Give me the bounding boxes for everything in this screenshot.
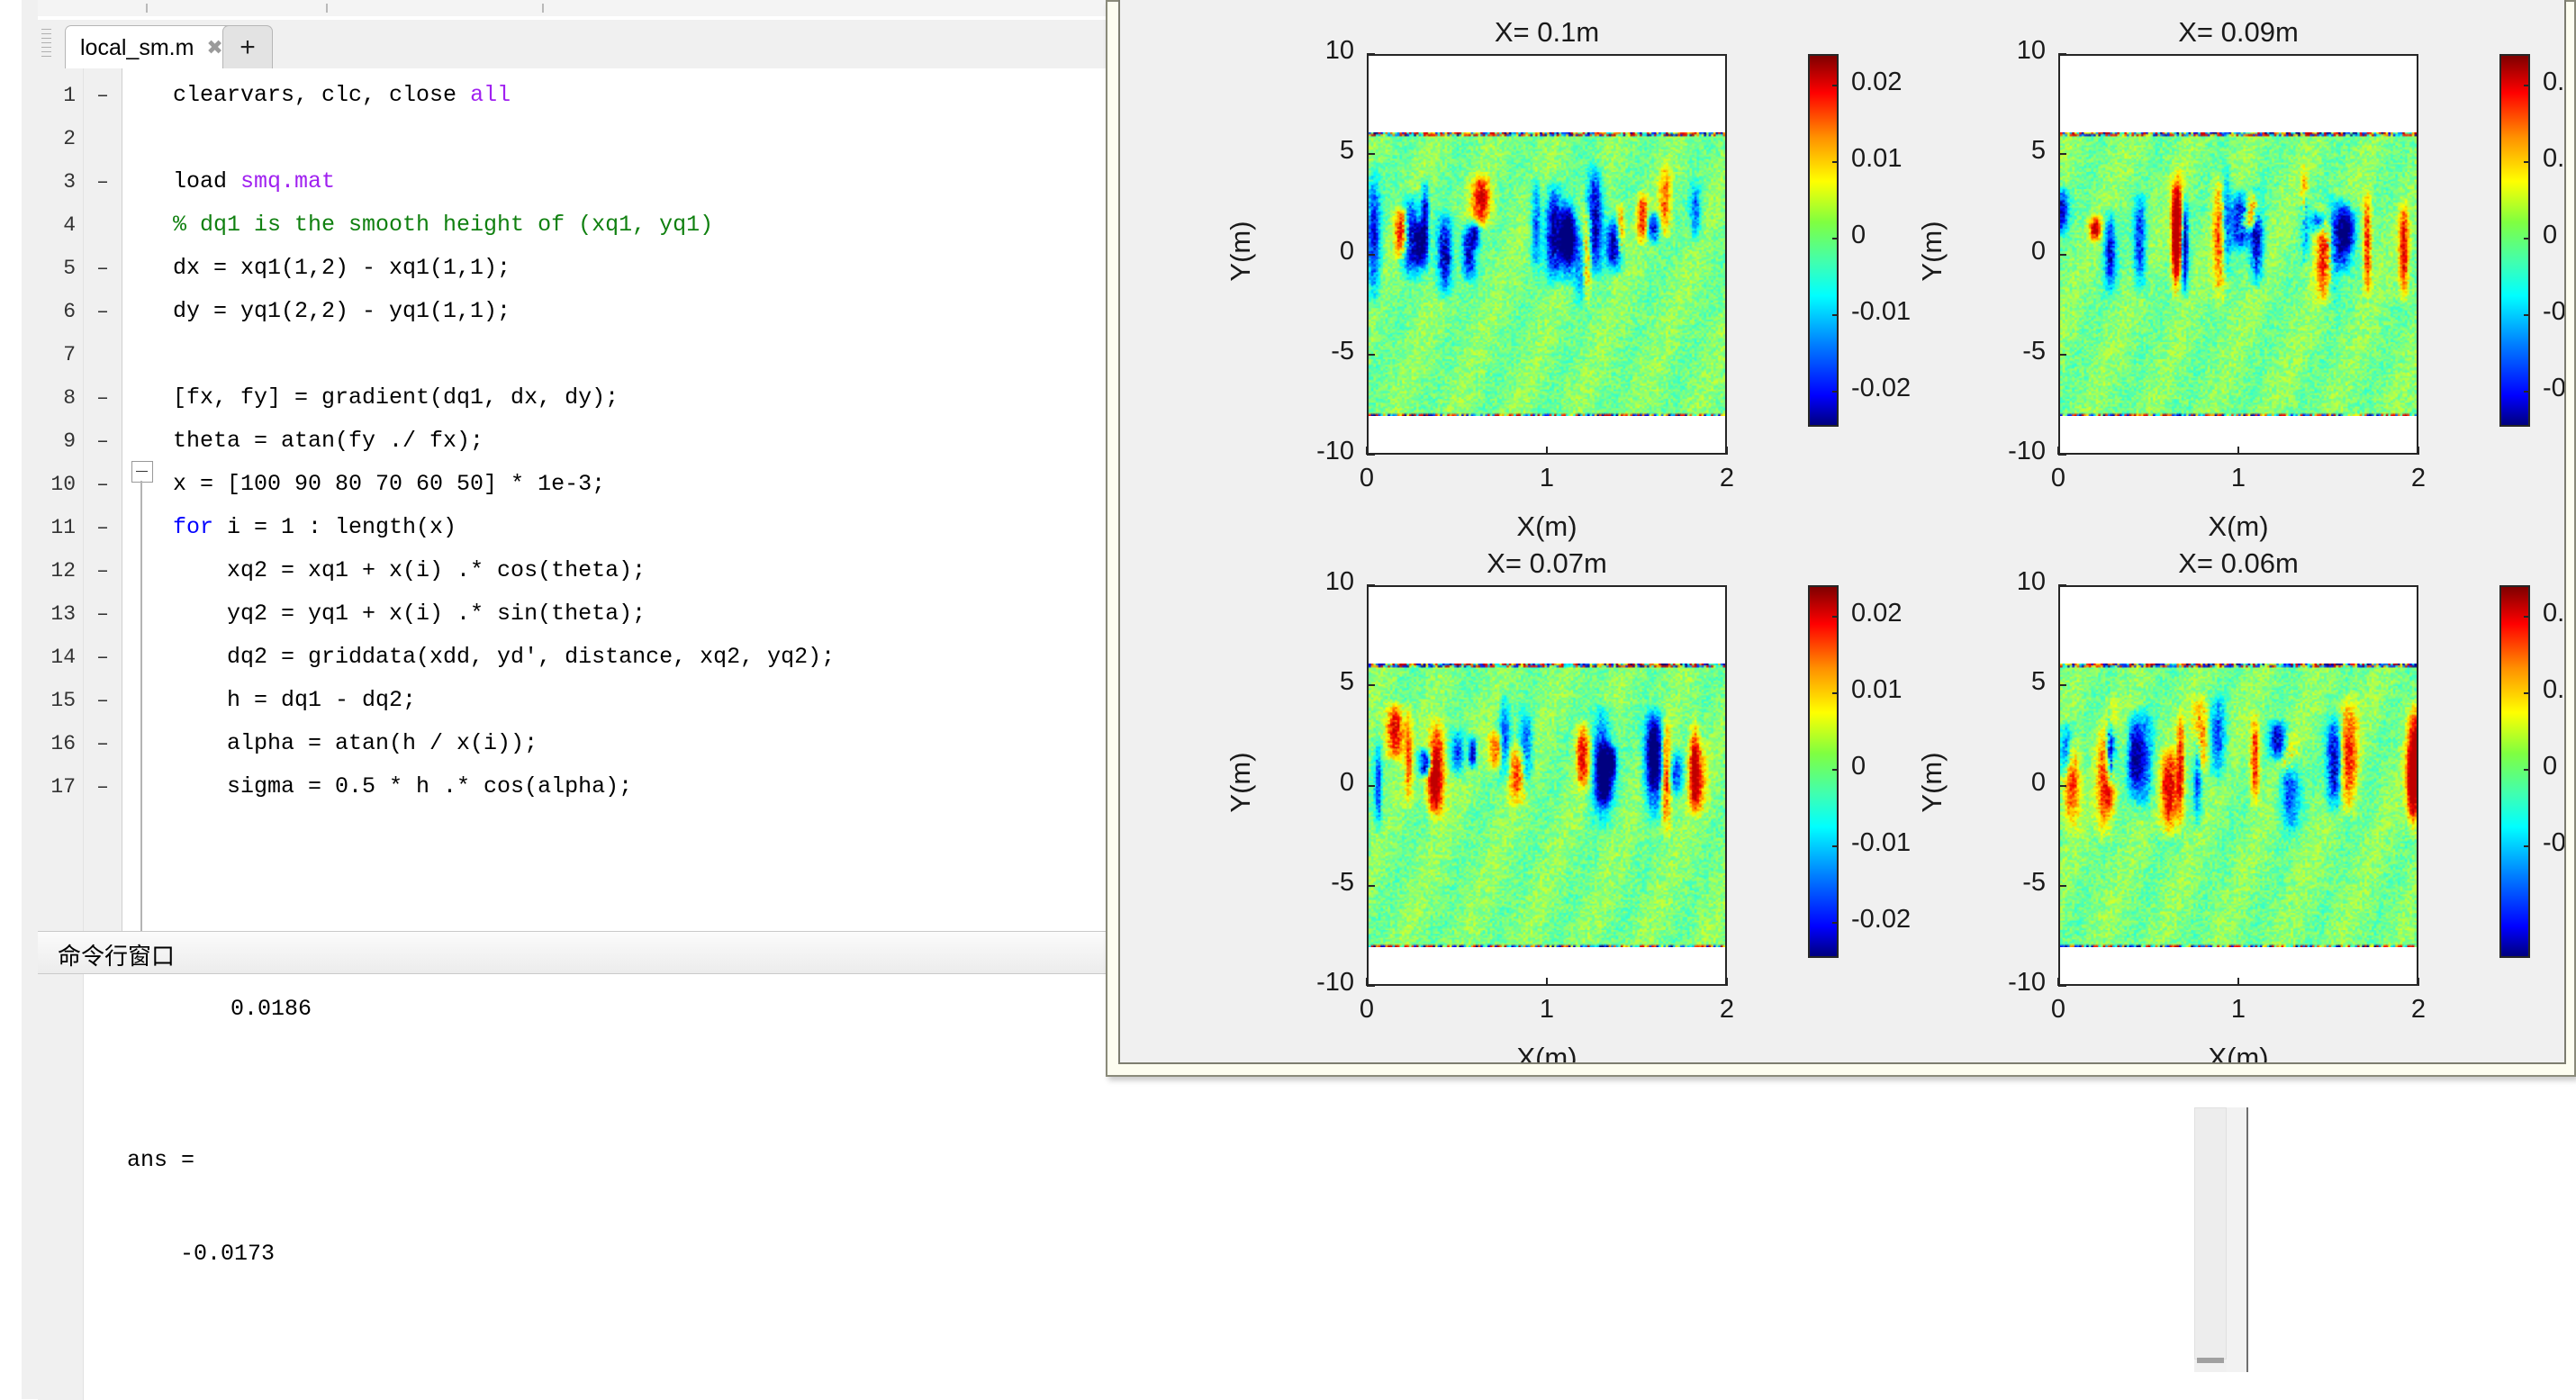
y-tick-label: -10 xyxy=(1952,437,2046,466)
executable-marker: – xyxy=(92,679,113,722)
colorbar-tick-label: 0 xyxy=(2543,221,2557,250)
code-text: load smq.mat xyxy=(173,160,335,203)
x-axis-label: X(m) xyxy=(2013,1042,2463,1064)
y-tick-label: 0 xyxy=(1261,237,1354,266)
colorbar-tick-mark xyxy=(2524,692,2530,694)
colorbar-tick-mark xyxy=(2524,391,2530,393)
x-tick-mark xyxy=(1546,447,1548,455)
x-tick-label: 2 xyxy=(1686,464,1767,493)
command-window-title: 命令行窗口 xyxy=(58,938,175,971)
command-window-gutter xyxy=(38,974,84,1400)
editor-toolstrip-strip xyxy=(38,0,1109,16)
y-tick-label: -5 xyxy=(1952,337,2046,366)
code-line: 9–theta = atan(fy ./ fx); xyxy=(38,420,1109,463)
code-text: yq2 = yq1 + x(i) .* sin(theta); xyxy=(173,592,646,636)
colorbar-tick-label: 0 xyxy=(2543,752,2557,781)
code-line: 2 xyxy=(38,117,1109,160)
y-tick-label: 5 xyxy=(1952,136,2046,166)
code-text: clearvars, clc, close all xyxy=(173,74,511,117)
executable-marker: – xyxy=(92,592,113,636)
window-left-rail xyxy=(22,0,39,1399)
x-tick-mark xyxy=(1366,978,1368,986)
y-tick-label: -5 xyxy=(1261,868,1354,898)
command-window-dock: 命令行窗口 0.0186ans = -0.0173 xyxy=(38,931,1109,1400)
line-number: 17 xyxy=(38,765,76,808)
x-tick-label: 2 xyxy=(1686,995,1767,1025)
y-tick-mark xyxy=(1367,684,1375,686)
colorbar-tick-label: 0.01 xyxy=(2543,675,2566,705)
x-tick-mark xyxy=(2237,447,2239,455)
subplot-title: X= 0.07m xyxy=(1295,547,1799,580)
colorbar[interactable] xyxy=(2499,585,2530,958)
colorbar-tick-mark xyxy=(2524,769,2530,771)
executable-marker: – xyxy=(92,722,113,765)
line-number: 11 xyxy=(38,506,76,549)
code-line: 17– sigma = 0.5 * h .* cos(alpha); xyxy=(38,765,1109,808)
y-tick-mark xyxy=(2058,785,2066,787)
x-tick-mark xyxy=(2418,978,2419,986)
command-window-output[interactable]: 0.0186ans = -0.0173 xyxy=(84,974,1109,1400)
new-tab-button[interactable]: + xyxy=(222,25,273,69)
heatmap-image xyxy=(2060,132,2417,417)
subplot-title: X= 0.1m xyxy=(1295,16,1799,49)
colorbar-tick-label: -0.01 xyxy=(2543,297,2566,327)
colorbar[interactable] xyxy=(2499,54,2530,427)
subplot[interactable]: X= 0.09m1050-5-10012Y(m)X(m)0.020.010-0.… xyxy=(1812,0,2503,531)
colorbar-tick-mark xyxy=(2524,85,2530,86)
y-tick-mark xyxy=(2058,254,2066,256)
code-text: xq2 = xq1 + x(i) .* cos(theta); xyxy=(173,549,646,592)
y-tick-label: 0 xyxy=(1952,768,2046,798)
line-number: 3 xyxy=(38,160,76,203)
editor-drag-handle[interactable] xyxy=(38,20,57,68)
executable-marker: – xyxy=(92,74,113,117)
x-tick-label: 0 xyxy=(1326,995,1407,1025)
code-line: 6–dy = yq1(2,2) - yq1(1,1); xyxy=(38,290,1109,333)
line-number: 10 xyxy=(38,463,76,506)
line-number: 16 xyxy=(38,722,76,765)
executable-marker: – xyxy=(92,549,113,592)
command-output-line: 0.0186 xyxy=(163,996,312,1022)
x-tick-mark xyxy=(2057,447,2059,455)
x-tick-label: 2 xyxy=(2378,464,2459,493)
scrollbar-thumb[interactable] xyxy=(2194,1107,2227,1359)
y-tick-mark xyxy=(1367,254,1375,256)
y-tick-mark xyxy=(1367,785,1375,787)
colorbar-tick-label: -0.01 xyxy=(2543,828,2566,858)
x-axis-label: X(m) xyxy=(1322,1042,1772,1064)
line-number: 9 xyxy=(38,420,76,463)
y-tick-label: -5 xyxy=(1261,337,1354,366)
y-tick-mark xyxy=(1367,584,1375,586)
x-tick-mark xyxy=(2057,978,2059,986)
code-line: 13– yq2 = yq1 + x(i) .* sin(theta); xyxy=(38,592,1109,636)
plot-axes[interactable] xyxy=(1367,585,1727,986)
y-axis-label: Y(m) xyxy=(1916,674,1948,890)
fold-range-bar xyxy=(140,481,142,931)
y-tick-mark xyxy=(2058,53,2066,55)
x-tick-mark xyxy=(1726,447,1728,455)
colorbar-tick-mark xyxy=(2524,845,2530,847)
code-text: dx = xq1(1,2) - xq1(1,1); xyxy=(173,247,511,290)
colorbar-tick-mark xyxy=(2524,238,2530,239)
y-tick-mark xyxy=(1367,53,1375,55)
code-line: 3–load smq.mat xyxy=(38,160,1109,203)
heatmap-image xyxy=(1369,132,1725,417)
plot-axes[interactable] xyxy=(2058,585,2418,986)
toolstrip-tick xyxy=(326,4,328,13)
y-tick-mark xyxy=(2058,985,2066,987)
y-tick-mark xyxy=(2058,454,2066,456)
x-tick-mark xyxy=(1366,447,1368,455)
executable-marker: – xyxy=(92,636,113,679)
y-axis-label: Y(m) xyxy=(1916,143,1948,359)
code-line: 1–clearvars, clc, close all xyxy=(38,74,1109,117)
y-tick-mark xyxy=(1367,153,1375,155)
code-text: sigma = 0.5 * h .* cos(alpha); xyxy=(173,765,632,808)
editor-tab-local-sm[interactable]: local_sm.m ✖ xyxy=(65,25,237,69)
line-number: 5 xyxy=(38,247,76,290)
executable-marker: – xyxy=(92,506,113,549)
line-number: 2 xyxy=(38,117,76,160)
y-tick-label: 0 xyxy=(1952,237,2046,266)
code-text: theta = atan(fy ./ fx); xyxy=(173,420,484,463)
code-text: for i = 1 : length(x) xyxy=(173,506,456,549)
y-tick-mark xyxy=(2058,584,2066,586)
code-line: 10–x = [100 90 80 70 60 50] * 1e-3; xyxy=(38,463,1109,506)
subplot[interactable]: X= 0.06m1050-5-10012Y(m)X(m)0.020.010-0.… xyxy=(1812,531,2503,1062)
code-text: alpha = atan(h / x(i)); xyxy=(173,722,538,765)
code-text: x = [100 90 80 70 60 50] * 1e-3; xyxy=(173,463,605,506)
executable-marker: – xyxy=(92,160,113,203)
executable-marker: – xyxy=(92,420,113,463)
code-editor[interactable]: 1–clearvars, clc, close all23–load smq.m… xyxy=(38,68,1109,931)
executable-marker: – xyxy=(92,463,113,506)
y-tick-mark xyxy=(2058,153,2066,155)
y-tick-mark xyxy=(2058,885,2066,887)
fold-collapse-icon[interactable] xyxy=(131,461,153,483)
x-tick-label: 1 xyxy=(2198,464,2279,493)
x-tick-label: 1 xyxy=(2198,995,2279,1025)
code-lines: 1–clearvars, clc, close all23–load smq.m… xyxy=(38,68,1109,931)
code-line: 5–dx = xq1(1,2) - xq1(1,1); xyxy=(38,247,1109,290)
colorbar-tick-label: -0.02 xyxy=(2543,374,2566,403)
colorbar-tick-label: 0.02 xyxy=(2543,599,2566,628)
y-tick-mark xyxy=(1367,354,1375,356)
code-line: 4% dq1 is the smooth height of (xq1, yq1… xyxy=(38,203,1109,247)
y-tick-label: 10 xyxy=(1952,567,2046,597)
code-line: 14– dq2 = griddata(xdd, yd', distance, x… xyxy=(38,636,1109,679)
y-tick-label: -10 xyxy=(1261,968,1354,998)
x-tick-label: 0 xyxy=(1326,464,1407,493)
y-tick-label: -10 xyxy=(1261,437,1354,466)
executable-marker: – xyxy=(92,247,113,290)
figure-window[interactable]: X= 0.1m1050-5-10012Y(m)X(m)0.020.010-0.0… xyxy=(1106,0,2576,1077)
x-tick-label: 0 xyxy=(2018,995,2099,1025)
window-left-margin xyxy=(0,0,22,1399)
line-number: 6 xyxy=(38,290,76,333)
y-tick-mark xyxy=(2058,354,2066,356)
y-tick-label: 5 xyxy=(1261,136,1354,166)
y-axis-label: Y(m) xyxy=(1225,143,1257,359)
y-tick-mark xyxy=(2058,684,2066,686)
code-text: dy = yq1(2,2) - yq1(1,1); xyxy=(173,290,511,333)
line-number: 14 xyxy=(38,636,76,679)
subplot-title: X= 0.09m xyxy=(1986,16,2490,49)
line-number: 1 xyxy=(38,74,76,117)
y-tick-mark xyxy=(1367,885,1375,887)
subplot-title: X= 0.06m xyxy=(1986,547,2490,580)
y-tick-mark xyxy=(1367,985,1375,987)
x-tick-label: 1 xyxy=(1506,995,1587,1025)
heatmap-image xyxy=(1369,664,1725,948)
close-icon[interactable]: ✖ xyxy=(206,38,222,58)
executable-marker: – xyxy=(92,376,113,420)
toolstrip-tick xyxy=(542,4,544,13)
x-tick-label: 2 xyxy=(2378,995,2459,1025)
executable-marker: – xyxy=(92,290,113,333)
y-tick-label: 5 xyxy=(1952,667,2046,697)
code-text: dq2 = griddata(xdd, yd', distance, xq2, … xyxy=(173,636,835,679)
x-tick-mark xyxy=(1726,978,1728,986)
code-line: 7 xyxy=(38,333,1109,376)
code-line: 12– xq2 = xq1 + x(i) .* cos(theta); xyxy=(38,549,1109,592)
x-tick-label: 0 xyxy=(2018,464,2099,493)
y-tick-label: -5 xyxy=(1952,868,2046,898)
plot-axes[interactable] xyxy=(1367,54,1727,455)
line-number: 8 xyxy=(38,376,76,420)
scrollbar-bottom-cap xyxy=(2197,1358,2224,1363)
x-tick-mark xyxy=(2237,978,2239,986)
line-number: 7 xyxy=(38,333,76,376)
editor-tab-bar: local_sm.m ✖ + xyxy=(56,20,1109,69)
y-tick-label: 10 xyxy=(1261,36,1354,66)
code-text: [fx, fy] = gradient(dq1, dx, dy); xyxy=(173,376,619,420)
command-output-line: ans = xyxy=(127,1147,194,1173)
toolstrip-tick xyxy=(146,4,148,13)
code-text: % dq1 is the smooth height of (xq1, yq1) xyxy=(173,203,713,247)
scrollbar-outer-track[interactable] xyxy=(2227,1107,2248,1372)
command-output-line: -0.0173 xyxy=(140,1241,275,1267)
y-tick-label: 0 xyxy=(1261,768,1354,798)
y-tick-mark xyxy=(1367,454,1375,456)
executable-marker: – xyxy=(92,765,113,808)
colorbar-tick-mark xyxy=(2524,314,2530,316)
y-tick-label: -10 xyxy=(1952,968,2046,998)
y-tick-label: 10 xyxy=(1261,567,1354,597)
y-tick-label: 5 xyxy=(1261,667,1354,697)
subplot[interactable]: X= 0.07m1050-5-10012Y(m)X(m)0.020.010-0.… xyxy=(1120,531,1812,1062)
command-window-titlebar[interactable]: 命令行窗口 xyxy=(38,932,1109,974)
code-line: 8–[fx, fy] = gradient(dq1, dx, dy); xyxy=(38,376,1109,420)
colorbar-tick-label: 0.01 xyxy=(2543,144,2566,174)
colorbar-tick-mark xyxy=(2524,616,2530,618)
x-tick-mark xyxy=(2418,447,2419,455)
figure-canvas: X= 0.1m1050-5-10012Y(m)X(m)0.020.010-0.0… xyxy=(1118,0,2566,1064)
colorbar-tick-label: 0.02 xyxy=(2543,68,2566,97)
code-line: 11–for i = 1 : length(x) xyxy=(38,506,1109,549)
code-line: 16– alpha = atan(h / x(i)); xyxy=(38,722,1109,765)
y-tick-label: 10 xyxy=(1952,36,2046,66)
y-axis-label: Y(m) xyxy=(1225,674,1257,890)
colorbar-tick-mark xyxy=(2524,161,2530,163)
subplot[interactable]: X= 0.1m1050-5-10012Y(m)X(m)0.020.010-0.0… xyxy=(1120,0,1812,531)
x-tick-mark xyxy=(1546,978,1548,986)
x-tick-label: 1 xyxy=(1506,464,1587,493)
plot-axes[interactable] xyxy=(2058,54,2418,455)
line-number: 12 xyxy=(38,549,76,592)
line-number: 15 xyxy=(38,679,76,722)
editor-tab-label: local_sm.m xyxy=(80,35,194,61)
code-line: 15– h = dq1 - dq2; xyxy=(38,679,1109,722)
heatmap-image xyxy=(2060,664,2417,948)
code-text: h = dq1 - dq2; xyxy=(173,679,416,722)
line-number: 4 xyxy=(38,203,76,247)
line-number: 13 xyxy=(38,592,76,636)
